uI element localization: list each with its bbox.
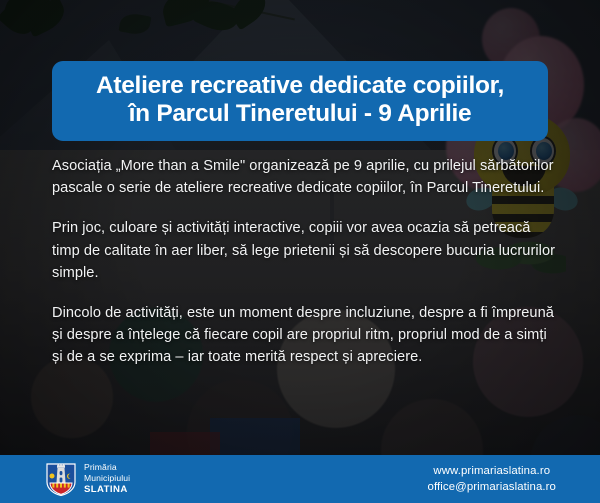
body-copy: Asociația „More than a Smile" organizeaz… xyxy=(52,155,557,368)
title-line-1: Ateliere recreative dedicate copiilor, xyxy=(68,72,532,100)
slatina-coat-of-arms-icon xyxy=(46,462,76,496)
paragraph-2: Prin joc, culoare și activități interact… xyxy=(52,217,557,284)
title-banner: Ateliere recreative dedicate copiilor, î… xyxy=(52,61,548,141)
logo-line-2: Municipiului xyxy=(84,473,130,484)
email-link[interactable]: office@primariaslatina.ro xyxy=(428,479,556,495)
logo-wordmark: Primăria Municipiului SLATINA xyxy=(84,462,130,497)
event-poster: Ateliere recreative dedicate copiilor, î… xyxy=(0,0,600,503)
footer-contact: www.primariaslatina.ro office@primariasl… xyxy=(428,463,556,495)
logo-line-3: SLATINA xyxy=(84,484,130,496)
poster-content: Ateliere recreative dedicate copiilor, î… xyxy=(0,0,600,503)
paragraph-3: Dincolo de activități, este un moment de… xyxy=(52,302,557,369)
title-line-2: în Parcul Tineretului - 9 Aprilie xyxy=(68,100,532,128)
website-link[interactable]: www.primariaslatina.ro xyxy=(428,463,556,479)
logo-line-1: Primăria xyxy=(84,462,130,473)
municipality-logo: Primăria Municipiului SLATINA xyxy=(46,462,130,497)
paragraph-1: Asociația „More than a Smile" organizeaz… xyxy=(52,155,557,199)
footer-bar: Primăria Municipiului SLATINA www.primar… xyxy=(0,455,600,503)
